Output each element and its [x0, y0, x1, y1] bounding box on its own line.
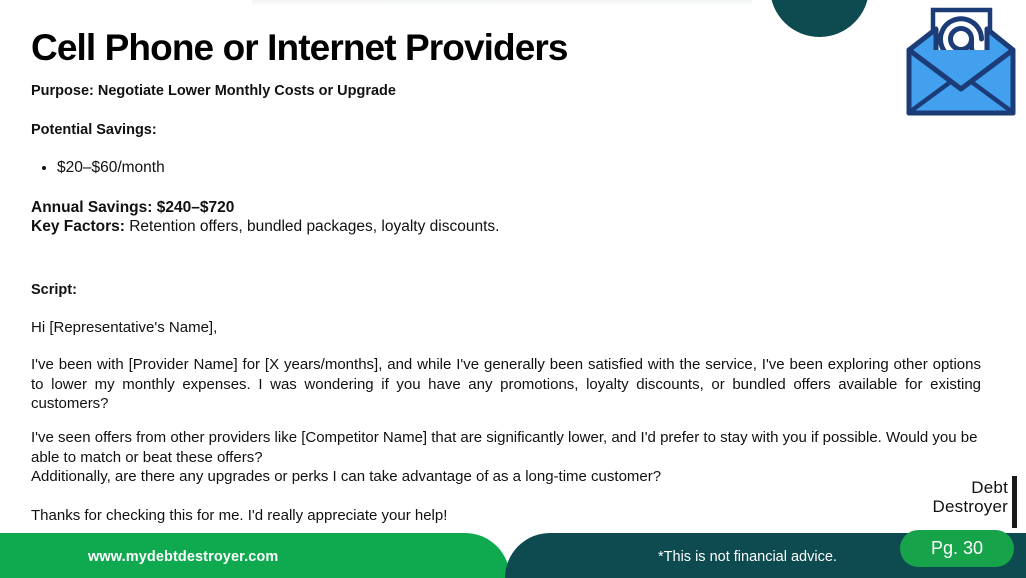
brand-logo: Debt Destroyer — [808, 478, 1008, 516]
key-factors-value: Retention offers, bundled packages, loya… — [125, 218, 500, 235]
purpose-line: Purpose: Negotiate Lower Monthly Costs o… — [31, 82, 396, 100]
top-accent-strip — [252, 0, 752, 6]
script-greeting: Hi [Representative's Name], — [31, 318, 217, 338]
annual-savings-line: Annual Savings: $240–$720 — [31, 198, 234, 218]
brand-accent-bar — [1012, 476, 1017, 528]
script-paragraph-1: I've been with [Provider Name] for [X ye… — [31, 355, 981, 414]
savings-bullet-list: $20–$60/month — [31, 158, 165, 178]
footer-disclaimer: *This is not financial advice. — [658, 549, 837, 565]
key-factors-label: Key Factors: — [31, 218, 125, 235]
script-paragraph-3: Thanks for checking this for me. I'd rea… — [31, 506, 831, 526]
brand-line-2: Destroyer — [808, 497, 1008, 516]
key-factors-line: Key Factors: Retention offers, bundled p… — [31, 217, 499, 237]
script-label: Script: — [31, 281, 77, 299]
page-title: Cell Phone or Internet Providers — [31, 26, 568, 70]
potential-savings-label: Potential Savings: — [31, 121, 157, 139]
footer: www.mydebtdestroyer.com *This is not fin… — [0, 530, 1026, 578]
page-number-badge: Pg. 30 — [900, 530, 1014, 567]
slide-page: Cell Phone or Internet Providers Purpose… — [0, 0, 1026, 578]
envelope-at-icon — [903, 3, 1019, 125]
decorative-teal-circle — [770, 0, 869, 37]
brand-line-1: Debt — [808, 478, 1008, 497]
list-item: $20–$60/month — [57, 158, 165, 178]
footer-website-link[interactable]: www.mydebtdestroyer.com — [88, 549, 278, 565]
